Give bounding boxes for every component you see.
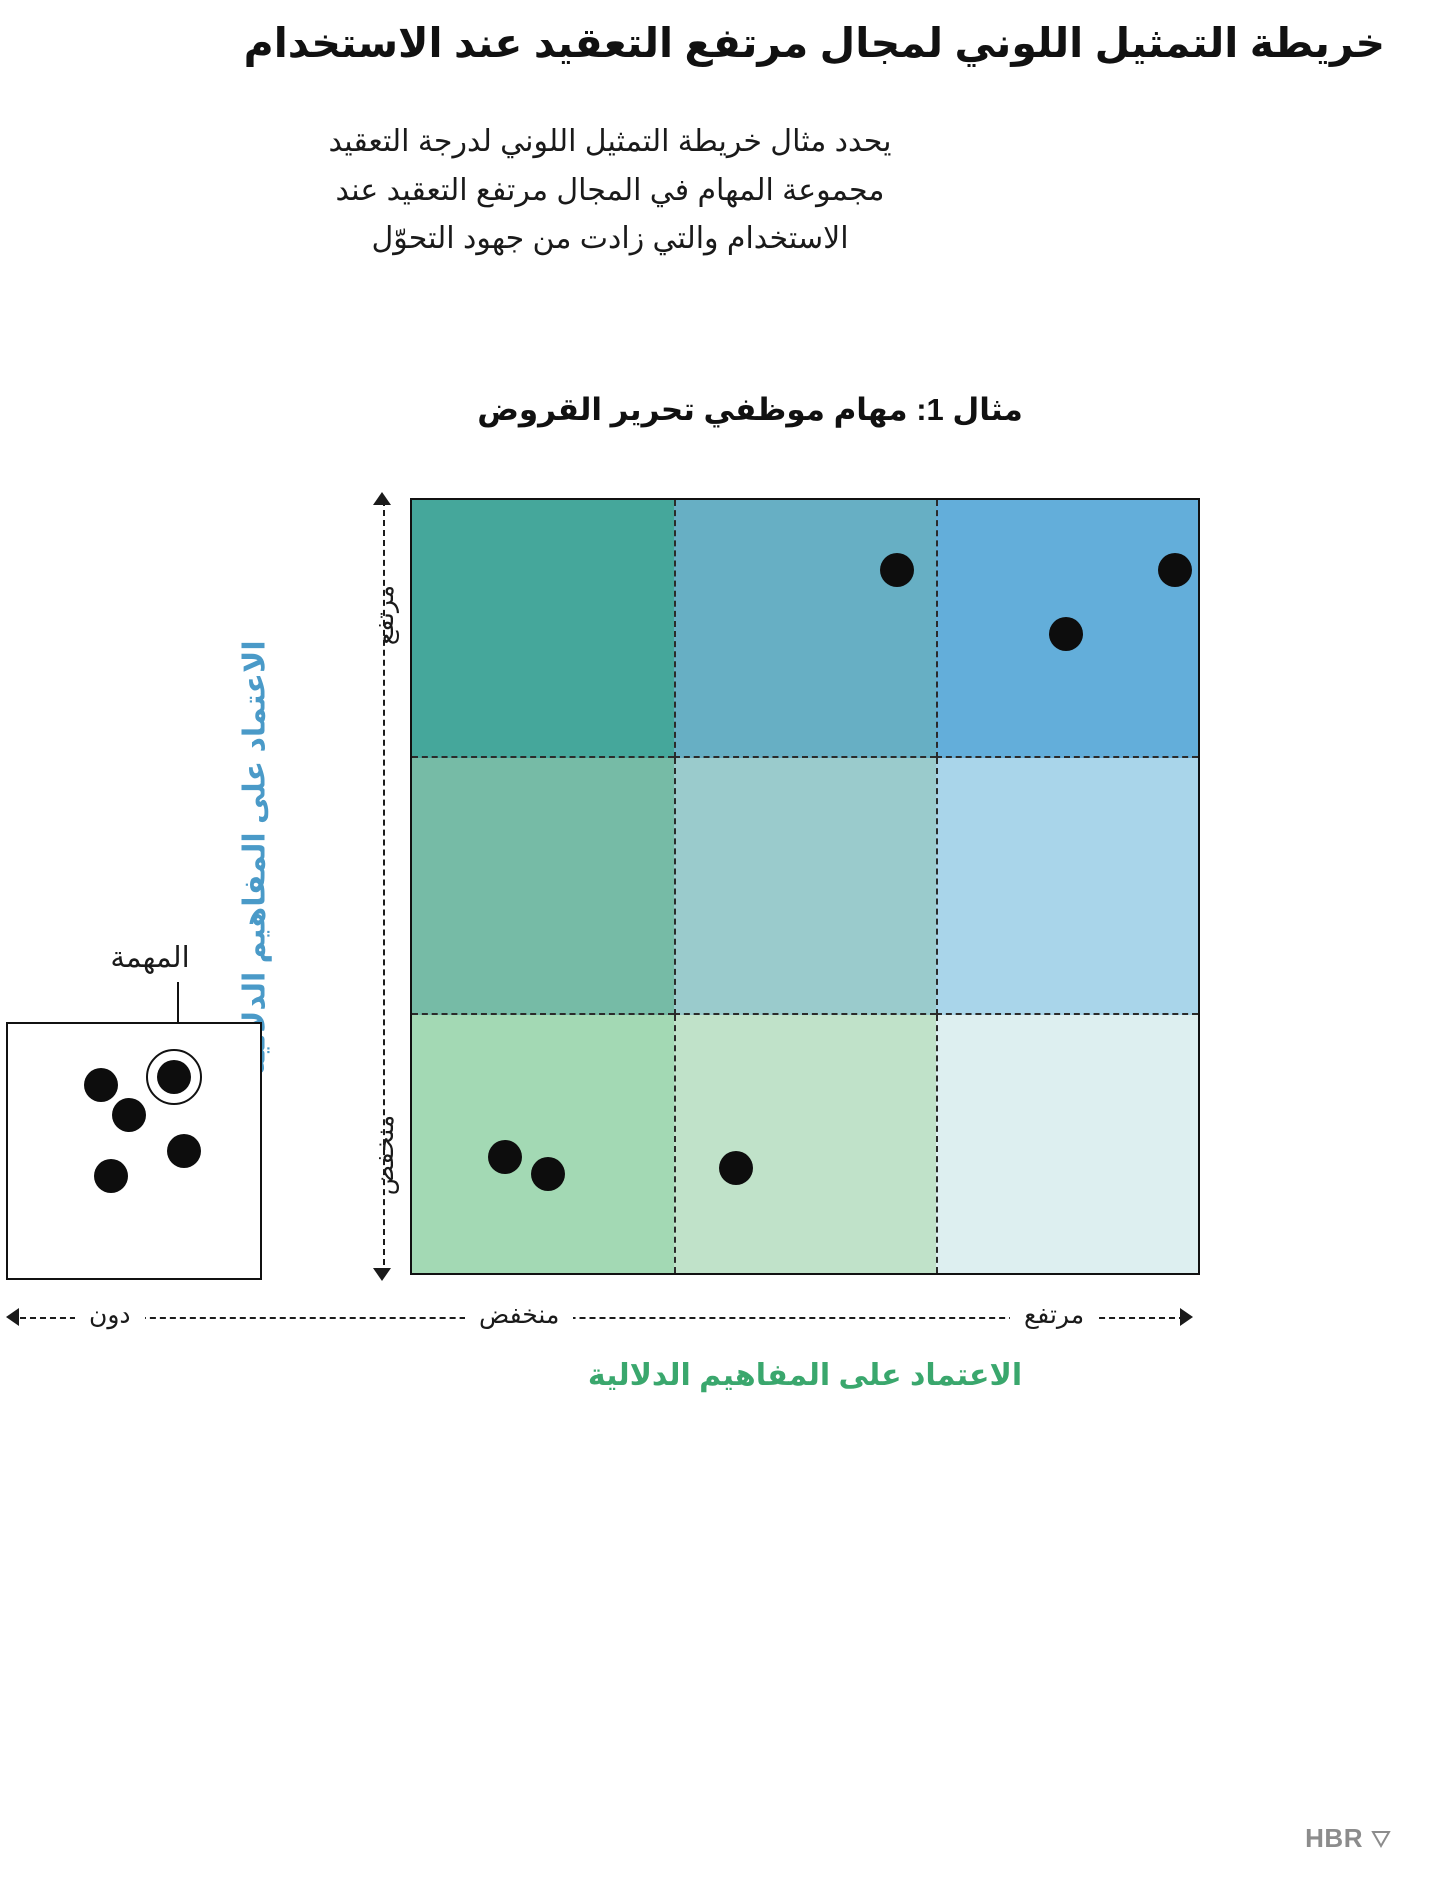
y-axis-arrow-up-icon <box>373 492 391 505</box>
hbr-mark-icon <box>1370 1828 1392 1850</box>
hbr-logo-text: HBR <box>1305 1823 1363 1854</box>
heatmap-cell-r0c2 <box>412 500 674 758</box>
heatmap-cell-r2c1 <box>674 1015 936 1273</box>
subtitle-line-1: يحدد مثال خريطة التمثيل اللوني لدرجة الت… <box>220 118 1000 167</box>
subtitle-line-2: مجموعة المهام في المجال مرتفع التعقيد عن… <box>220 167 1000 216</box>
heatmap-cell-r2c0 <box>936 1015 1198 1273</box>
subtitle-line-3: الاستخدام والتي زادت من جهود التحوّل <box>220 215 1000 264</box>
y-axis-arrow-down-icon <box>373 1268 391 1281</box>
heatmap-plot-area <box>410 498 1200 1275</box>
x-axis-tick-low: منخفض <box>465 1300 573 1330</box>
hbr-logo: HBR <box>1305 1823 1392 1854</box>
x-axis-arrow-left-icon <box>6 1308 19 1326</box>
heatmap-cell-r1c0 <box>936 758 1198 1016</box>
y-axis-tick-low: منخفض <box>370 1085 400 1225</box>
x-axis-label: الاعتماد على المفاهيم الدلالية <box>500 1358 1110 1393</box>
x-axis-arrow-right-icon <box>1180 1308 1193 1326</box>
legend-callout-label: المهمة <box>60 940 240 975</box>
x-axis-tick-none: دون <box>75 1300 145 1330</box>
legend-data-point <box>94 1159 128 1193</box>
heatmap-cell-r1c2 <box>412 758 674 1016</box>
legend-data-point <box>112 1098 146 1132</box>
legend-data-point <box>157 1060 191 1094</box>
heatmap-cell-r2c2 <box>412 1015 674 1273</box>
heatmap-cell-r1c1 <box>674 758 936 1016</box>
y-axis-tick-high: مرتفع <box>370 545 400 685</box>
x-axis-tick-high: مرتفع <box>1010 1300 1098 1330</box>
heatmap-cell-r0c1 <box>674 500 936 758</box>
legend-data-point <box>84 1068 118 1102</box>
page-subtitle: يحدد مثال خريطة التمثيل اللوني لدرجة الت… <box>220 118 1000 264</box>
legend-data-point <box>167 1134 201 1168</box>
legend-task-box <box>6 1022 262 1280</box>
heatmap-cell-r0c0 <box>936 500 1198 758</box>
page-title: خريطة التمثيل اللوني لمجال مرتفع التعقيد… <box>55 18 1385 68</box>
chart-title: مثال 1: مهام موظفي تحرير القروض <box>300 392 1200 428</box>
infographic-root: خريطة التمثيل اللوني لمجال مرتفع التعقيد… <box>0 0 1440 1884</box>
